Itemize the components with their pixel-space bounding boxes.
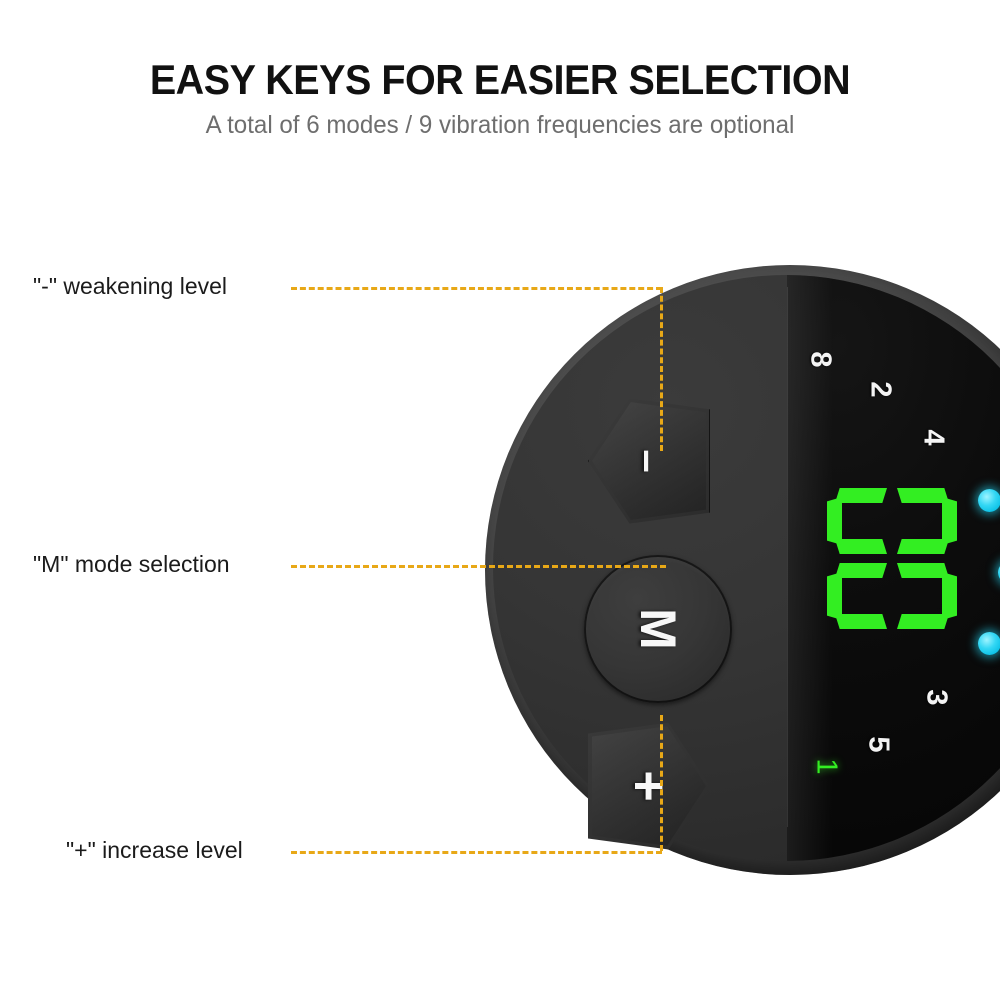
page-subtitle: A total of 6 modes / 9 vibration frequen… [18,111,983,139]
mode-key[interactable]: M [584,555,732,703]
leader-line-plus-vertical [660,715,663,851]
scale-number-2: 2 [866,381,895,397]
indicator-led-3 [978,632,1000,655]
plus-key-shape [588,717,710,855]
segment-g [885,497,900,545]
readout-digit-2 [827,563,957,629]
mode-key-shape [584,555,732,703]
segment-c [835,614,887,629]
minus-key[interactable]: – [588,393,710,529]
leader-line-minus-horizontal [291,287,662,290]
leader-line-plus-horizontal [291,851,662,854]
annotation-label-minus: "-" weakening level [33,273,227,301]
scale-number-1-active: 1 [812,758,841,774]
indicator-led-1 [978,489,1000,512]
segment-a [942,497,957,545]
annotation-label-plus: "+" increase level [66,837,243,865]
scale-number-4: 4 [919,429,948,445]
minus-key-shape [588,393,710,529]
segment-g [885,572,900,620]
product-infographic: EASY KEYS FOR EASIER SELECTION A total o… [0,0,1000,1000]
page-title: EASY KEYS FOR EASIER SELECTION [30,58,970,102]
segment-a [942,572,957,620]
digital-readout [823,488,957,646]
segment-f [897,563,949,578]
leader-line-mode-horizontal [291,565,666,568]
leader-line-minus-vertical [660,287,663,451]
segment-b [897,539,949,554]
plus-key[interactable]: + [588,717,710,855]
segment-e [835,563,887,578]
header-block: EASY KEYS FOR EASIER SELECTION A total o… [0,58,1000,139]
segment-c [835,539,887,554]
segment-d [827,572,842,620]
segment-b [897,614,949,629]
segment-e [835,488,887,503]
segment-d [827,497,842,545]
display-panel-edge [787,287,788,827]
segment-f [897,488,949,503]
scale-number-3: 3 [922,689,951,705]
scale-number-5: 5 [864,736,893,752]
scale-number-8: 8 [806,351,835,367]
annotation-label-mode: "M" mode selection [33,551,230,579]
readout-digit-1 [827,488,957,554]
device-illustration: 8 2 4 3 5 1 [485,265,1000,875]
